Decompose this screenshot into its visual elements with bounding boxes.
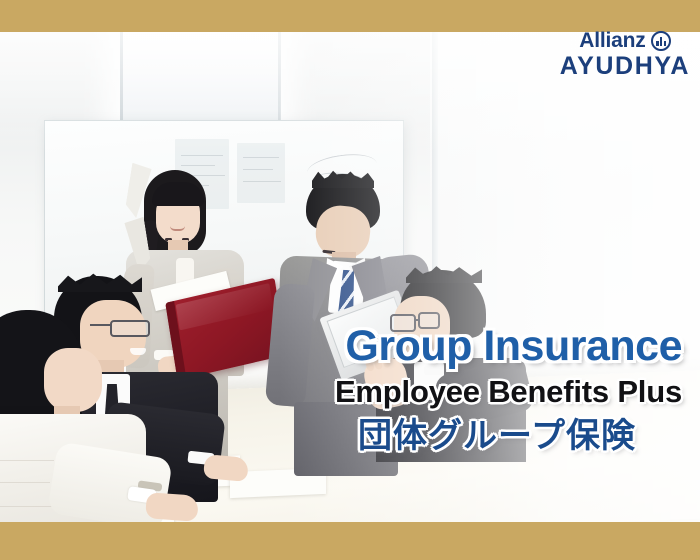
fabric-fold <box>0 482 50 483</box>
whiteboard-line <box>243 157 279 158</box>
headline-block: Group Insurance Employee Benefits Plus 団… <box>335 325 682 453</box>
whiteboard-line <box>181 155 223 156</box>
bottom-gold-border <box>0 522 700 560</box>
allianz-bars-icon <box>651 31 671 51</box>
top-gold-border <box>0 0 700 32</box>
page-subtitle: Employee Benefits Plus <box>335 376 682 407</box>
allianz-ayudhya-logo: Allianz AYUDHYA <box>560 30 690 79</box>
window-frame-right <box>278 32 281 124</box>
hand <box>145 492 199 522</box>
logo-company-text: AYUDHYA <box>560 54 690 79</box>
fringe <box>152 182 204 206</box>
page-title: Group Insurance <box>335 325 682 368</box>
group-insurance-banner: Allianz AYUDHYA Group Insurance Employee… <box>0 0 700 560</box>
page-title-japanese: 団体グループ保険 <box>335 419 636 453</box>
eyeglasses-bridge <box>415 319 420 321</box>
person-seated-woman <box>0 310 180 522</box>
fabric-fold <box>0 460 54 461</box>
logo-brand-row: Allianz <box>560 30 690 51</box>
window-frame-left <box>120 32 123 128</box>
fabric-fold <box>0 506 56 507</box>
logo-brand-text: Allianz <box>579 30 645 51</box>
window-light <box>120 32 280 128</box>
face <box>44 348 102 412</box>
